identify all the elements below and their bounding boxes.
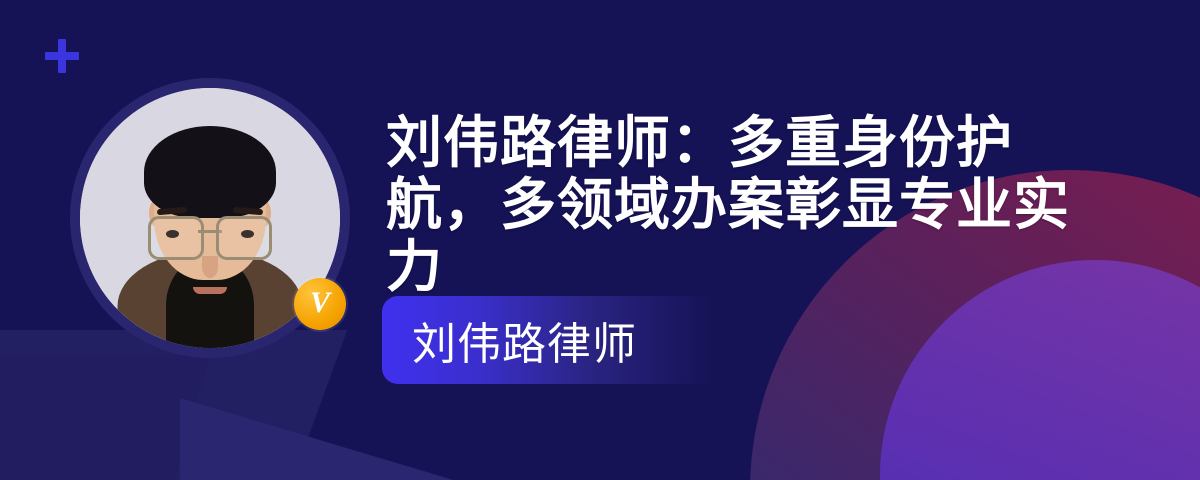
portrait-glasses: [148, 216, 272, 256]
article-cover-banner: V 刘伟路律师 刘伟路律师：多重身份护航，多领域办案彰显专业实力: [0, 0, 1200, 480]
headline-container: 刘伟路律师：多重身份护航，多领域办案彰显专业实力: [386, 112, 1086, 298]
decorative-shape-left-block: [0, 355, 210, 480]
verified-badge-letter: V: [310, 288, 330, 318]
plus-icon: [44, 38, 80, 74]
lawyer-name-label: 刘伟路律师: [412, 308, 637, 372]
glasses-lens-left: [148, 216, 204, 260]
portrait-nose: [202, 256, 218, 278]
portrait-hair: [144, 126, 276, 218]
avatar: V: [80, 88, 340, 348]
glasses-lens-right: [216, 216, 272, 260]
decorative-shape-triangle: [180, 398, 480, 480]
page-title: 刘伟路律师：多重身份护航，多领域办案彰显专业实力: [386, 112, 1086, 298]
lawyer-name-pill: 刘伟路律师: [382, 296, 716, 384]
portrait-mouth: [193, 287, 227, 294]
verified-badge-icon: V: [294, 278, 346, 330]
